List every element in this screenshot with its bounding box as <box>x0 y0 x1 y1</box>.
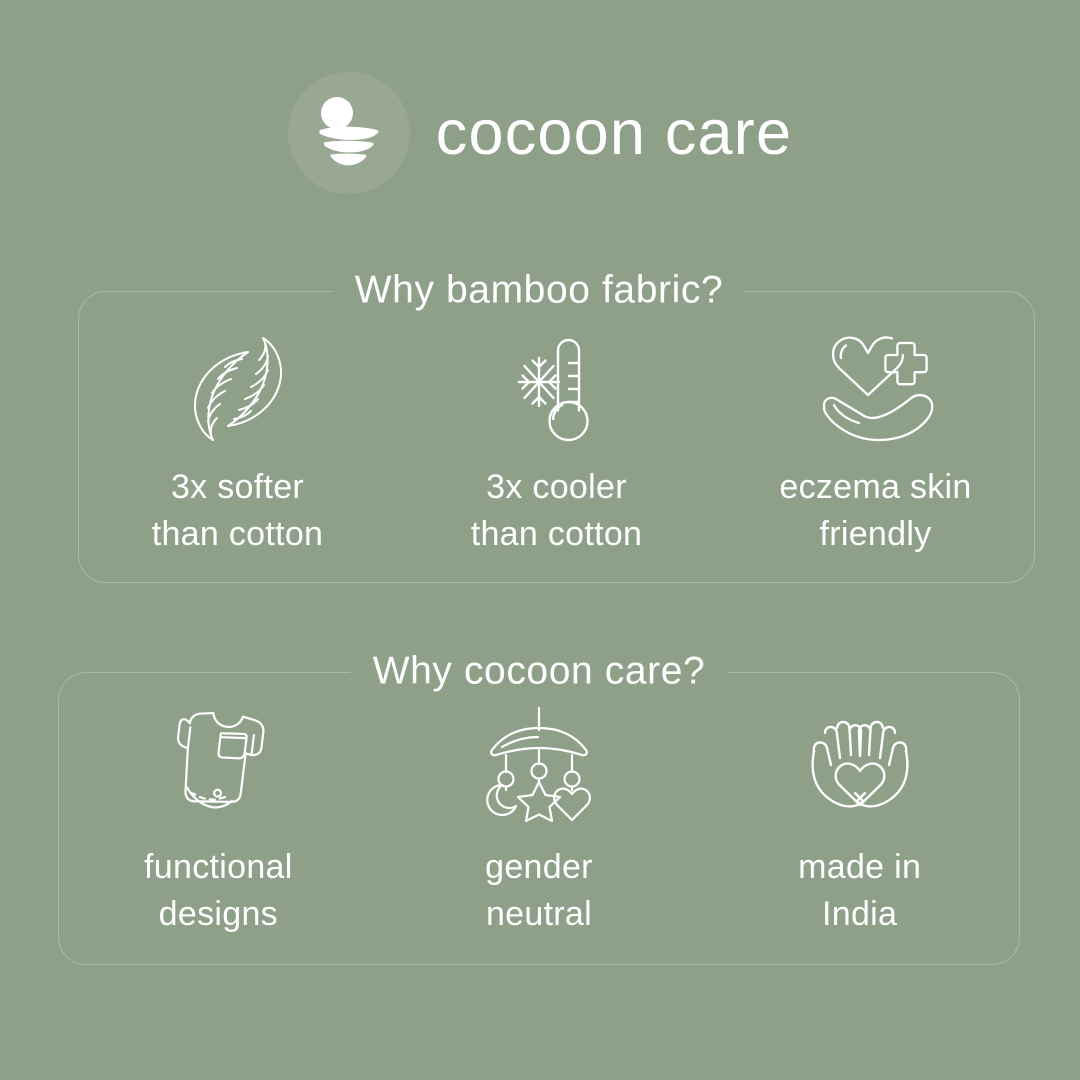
feature-label: 3x softer than cotton <box>152 464 324 557</box>
crib-mobile-icon <box>476 706 602 824</box>
feature-3x-cooler[interactable]: 3x cooler than cotton <box>407 330 707 557</box>
feature-made-in-india[interactable]: made in India <box>710 706 1010 937</box>
hands-heart-icon <box>797 706 923 824</box>
brand-header: cocoon care <box>0 72 1080 194</box>
feature-gender-neutral[interactable]: gender neutral <box>389 706 689 937</box>
thermometer-snowflake-icon <box>498 330 616 448</box>
infographic-page: cocoon care Why bamboo fabric? <box>0 0 1080 1080</box>
feature-label: gender neutral <box>485 844 593 937</box>
feature-label: functional designs <box>144 844 293 937</box>
cocoon-leaf-mark-icon <box>288 72 410 194</box>
feature-functional-designs[interactable]: functional designs <box>68 706 368 937</box>
hand-heart-cross-icon <box>812 330 940 448</box>
feature-label: eczema skin friendly <box>779 464 971 557</box>
section-title-cocoon: Why cocoon care? <box>351 652 728 693</box>
feature-label: 3x cooler than cotton <box>471 464 643 557</box>
baby-onesie-icon <box>158 706 278 824</box>
feature-3x-softer[interactable]: 3x softer than cotton <box>88 330 388 557</box>
section-title-bamboo: Why bamboo fabric? <box>333 271 745 312</box>
feature-row-cocoon: functional designs <box>58 706 1020 937</box>
feature-eczema-skin-friendly[interactable]: eczema skin friendly <box>726 330 1026 557</box>
feature-row-bamboo: 3x softer than cotton <box>78 330 1035 557</box>
feathers-icon <box>175 330 301 448</box>
brand-name: cocoon care <box>436 102 792 165</box>
feature-label: made in India <box>798 844 921 937</box>
